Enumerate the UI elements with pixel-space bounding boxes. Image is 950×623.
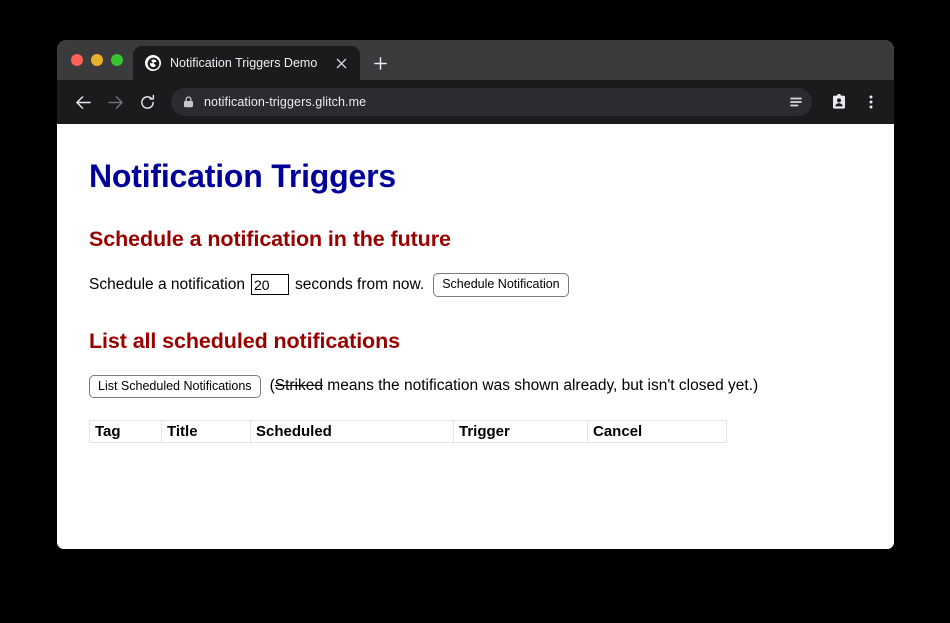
column-header-trigger: Trigger [454, 421, 588, 443]
list-note-rest: means the notification was shown already… [323, 377, 758, 394]
address-bar[interactable]: notification-triggers.glitch.me [171, 88, 812, 116]
list-note-striked-word: Striked [275, 377, 323, 394]
browser-toolbar: notification-triggers.glitch.me [57, 80, 894, 124]
seconds-input[interactable] [251, 274, 289, 295]
minimize-window-button[interactable] [91, 54, 103, 66]
list-scheduled-notifications-button[interactable]: List Scheduled Notifications [89, 375, 261, 399]
reload-button[interactable] [133, 88, 161, 116]
column-header-tag: Tag [90, 421, 162, 443]
schedule-form-row: Schedule a notification seconds from now… [89, 273, 862, 297]
browser-tab-active[interactable]: Notification Triggers Demo [133, 46, 360, 80]
reading-list-icon[interactable] [786, 92, 806, 112]
new-tab-button[interactable] [366, 49, 394, 77]
profile-icon[interactable] [826, 89, 852, 115]
schedule-label-after: seconds from now. [295, 276, 424, 294]
column-header-title: Title [162, 421, 251, 443]
lock-icon [183, 96, 195, 108]
column-header-cancel: Cancel [588, 421, 727, 443]
schedule-section-heading: Schedule a notification in the future [89, 227, 862, 252]
three-dot-menu-icon[interactable] [858, 89, 884, 115]
screen: Notification Triggers Demo [0, 0, 950, 623]
window-traffic-lights [65, 40, 133, 80]
schedule-label-before: Schedule a notification [89, 276, 245, 294]
forward-button[interactable] [101, 88, 129, 116]
notifications-table: Tag Title Scheduled Trigger Cancel [89, 420, 727, 443]
list-section-heading: List all scheduled notifications [89, 329, 862, 354]
globe-favicon [145, 55, 161, 71]
page-content: Notification Triggers Schedule a notific… [57, 124, 894, 549]
list-controls-row: List Scheduled Notifications (Striked me… [89, 375, 862, 399]
column-header-scheduled: Scheduled [251, 421, 454, 443]
schedule-notification-button[interactable]: Schedule Notification [433, 273, 568, 297]
close-window-button[interactable] [71, 54, 83, 66]
url-text: notification-triggers.glitch.me [204, 95, 777, 109]
close-tab-icon[interactable] [332, 54, 350, 72]
back-button[interactable] [69, 88, 97, 116]
table-header-row: Tag Title Scheduled Trigger Cancel [90, 421, 727, 443]
tab-strip: Notification Triggers Demo [57, 40, 894, 80]
tab-title: Notification Triggers Demo [170, 56, 323, 70]
page-title: Notification Triggers [89, 158, 862, 195]
browser-window: Notification Triggers Demo [57, 40, 894, 549]
maximize-window-button[interactable] [111, 54, 123, 66]
list-note: (Striked means the notification was show… [270, 377, 759, 395]
